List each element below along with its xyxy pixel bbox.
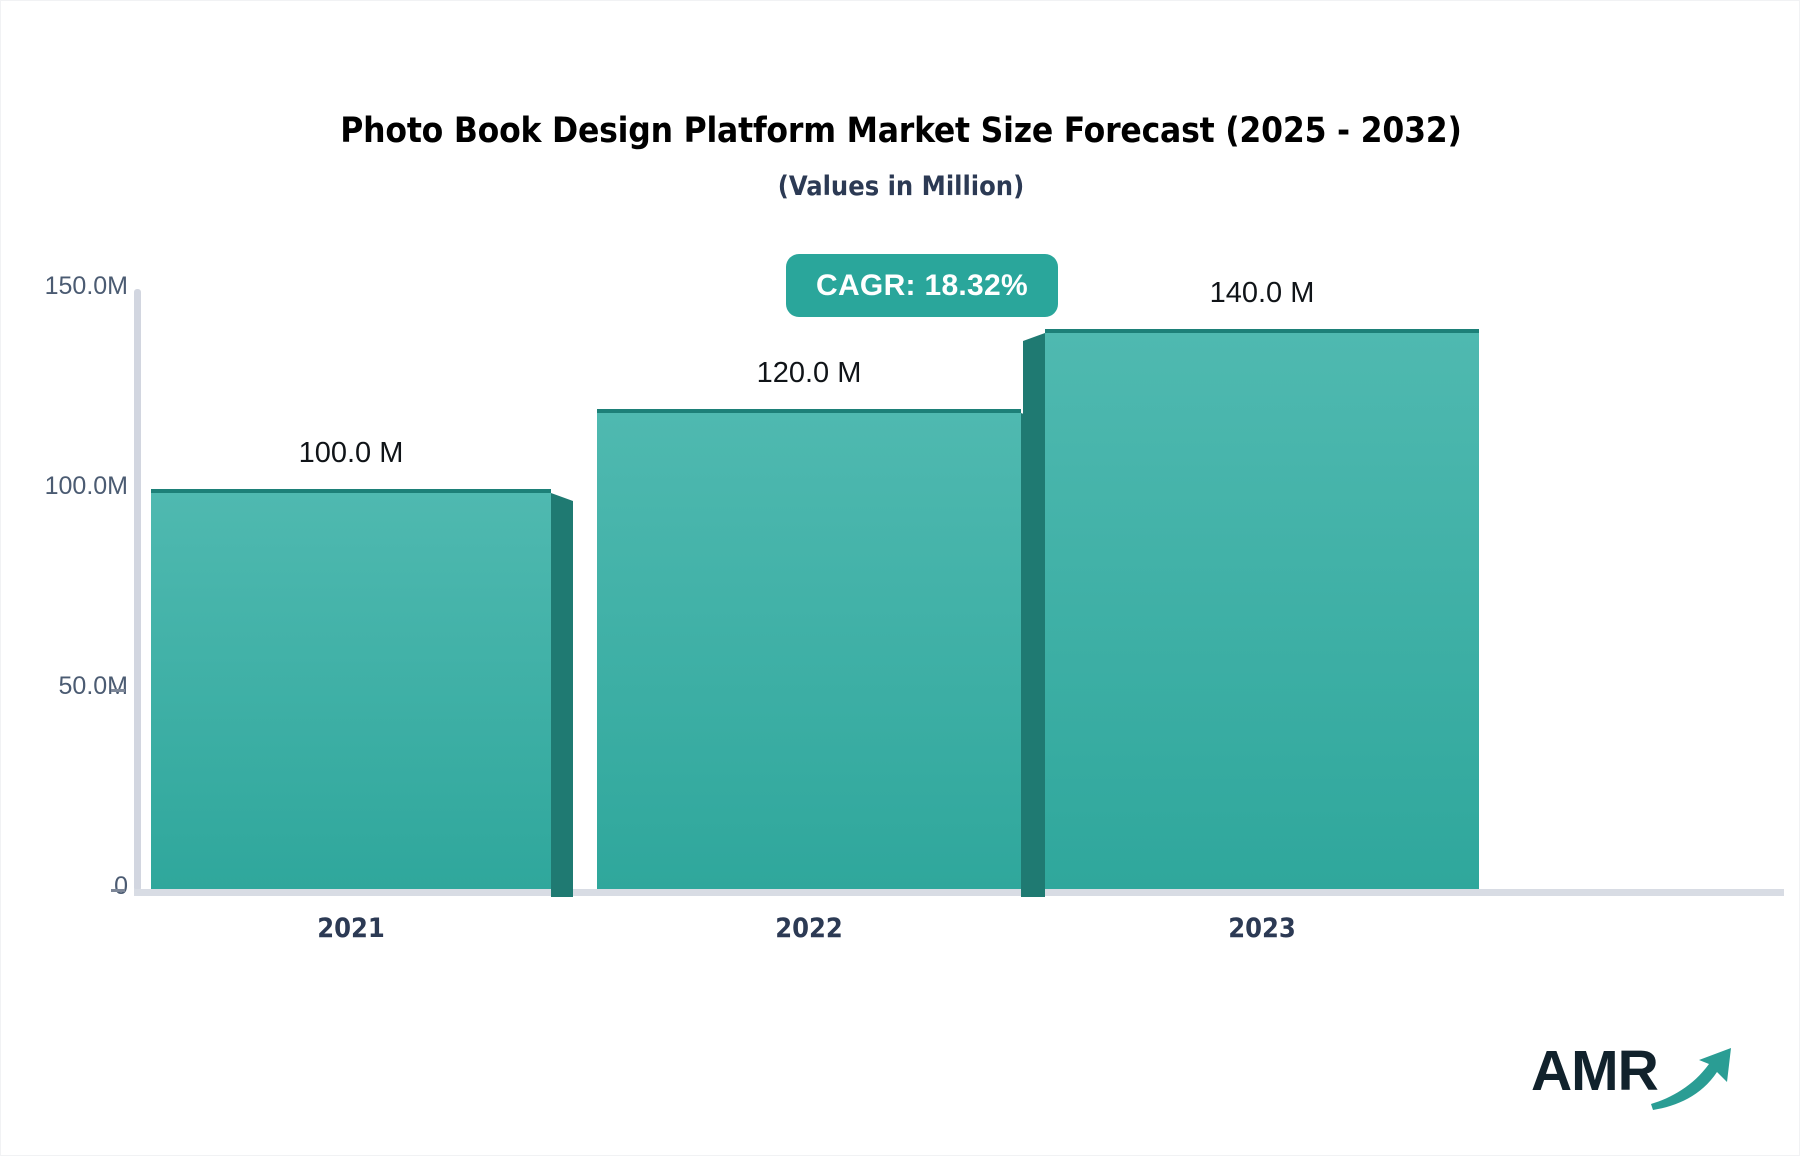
y-axis-tick-mark — [111, 689, 125, 692]
bar-3d-side — [551, 493, 573, 897]
x-axis-baseline — [134, 889, 1784, 896]
bar-3d-side — [1023, 333, 1045, 897]
bar-2022[interactable] — [597, 409, 1021, 889]
bar-value-label: 100.0 M — [151, 437, 551, 470]
y-axis-tick-label: 100.0M — [45, 472, 128, 501]
bar-value-label: 140.0 M — [1045, 277, 1479, 310]
y-axis-tick-mark — [111, 889, 125, 892]
bar-2021[interactable] — [151, 489, 551, 889]
y-axis-line — [134, 289, 141, 891]
x-axis-label-2023: 2023 — [1045, 913, 1479, 944]
amr-logo-text: AMR — [1531, 1038, 1658, 1104]
plot-area: 150.0M100.0M50.0M0 100.0 M120.0 M140.0 M… — [1, 1, 1800, 1156]
amr-logo: AMR — [1531, 1036, 1731, 1116]
x-axis-label-2022: 2022 — [597, 913, 1021, 944]
y-axis-tick-label: 50.0M — [59, 672, 128, 701]
x-axis-label-2021: 2021 — [151, 913, 551, 944]
chart-page: Photo Book Design Platform Market Size F… — [0, 0, 1800, 1156]
bar-value-label: 120.0 M — [597, 357, 1021, 390]
bar-2023[interactable] — [1045, 329, 1479, 889]
y-axis-tick-label: 0 — [114, 872, 128, 901]
growth-arrow-icon — [1649, 1042, 1739, 1112]
y-axis-tick-label: 150.0M — [45, 272, 128, 301]
